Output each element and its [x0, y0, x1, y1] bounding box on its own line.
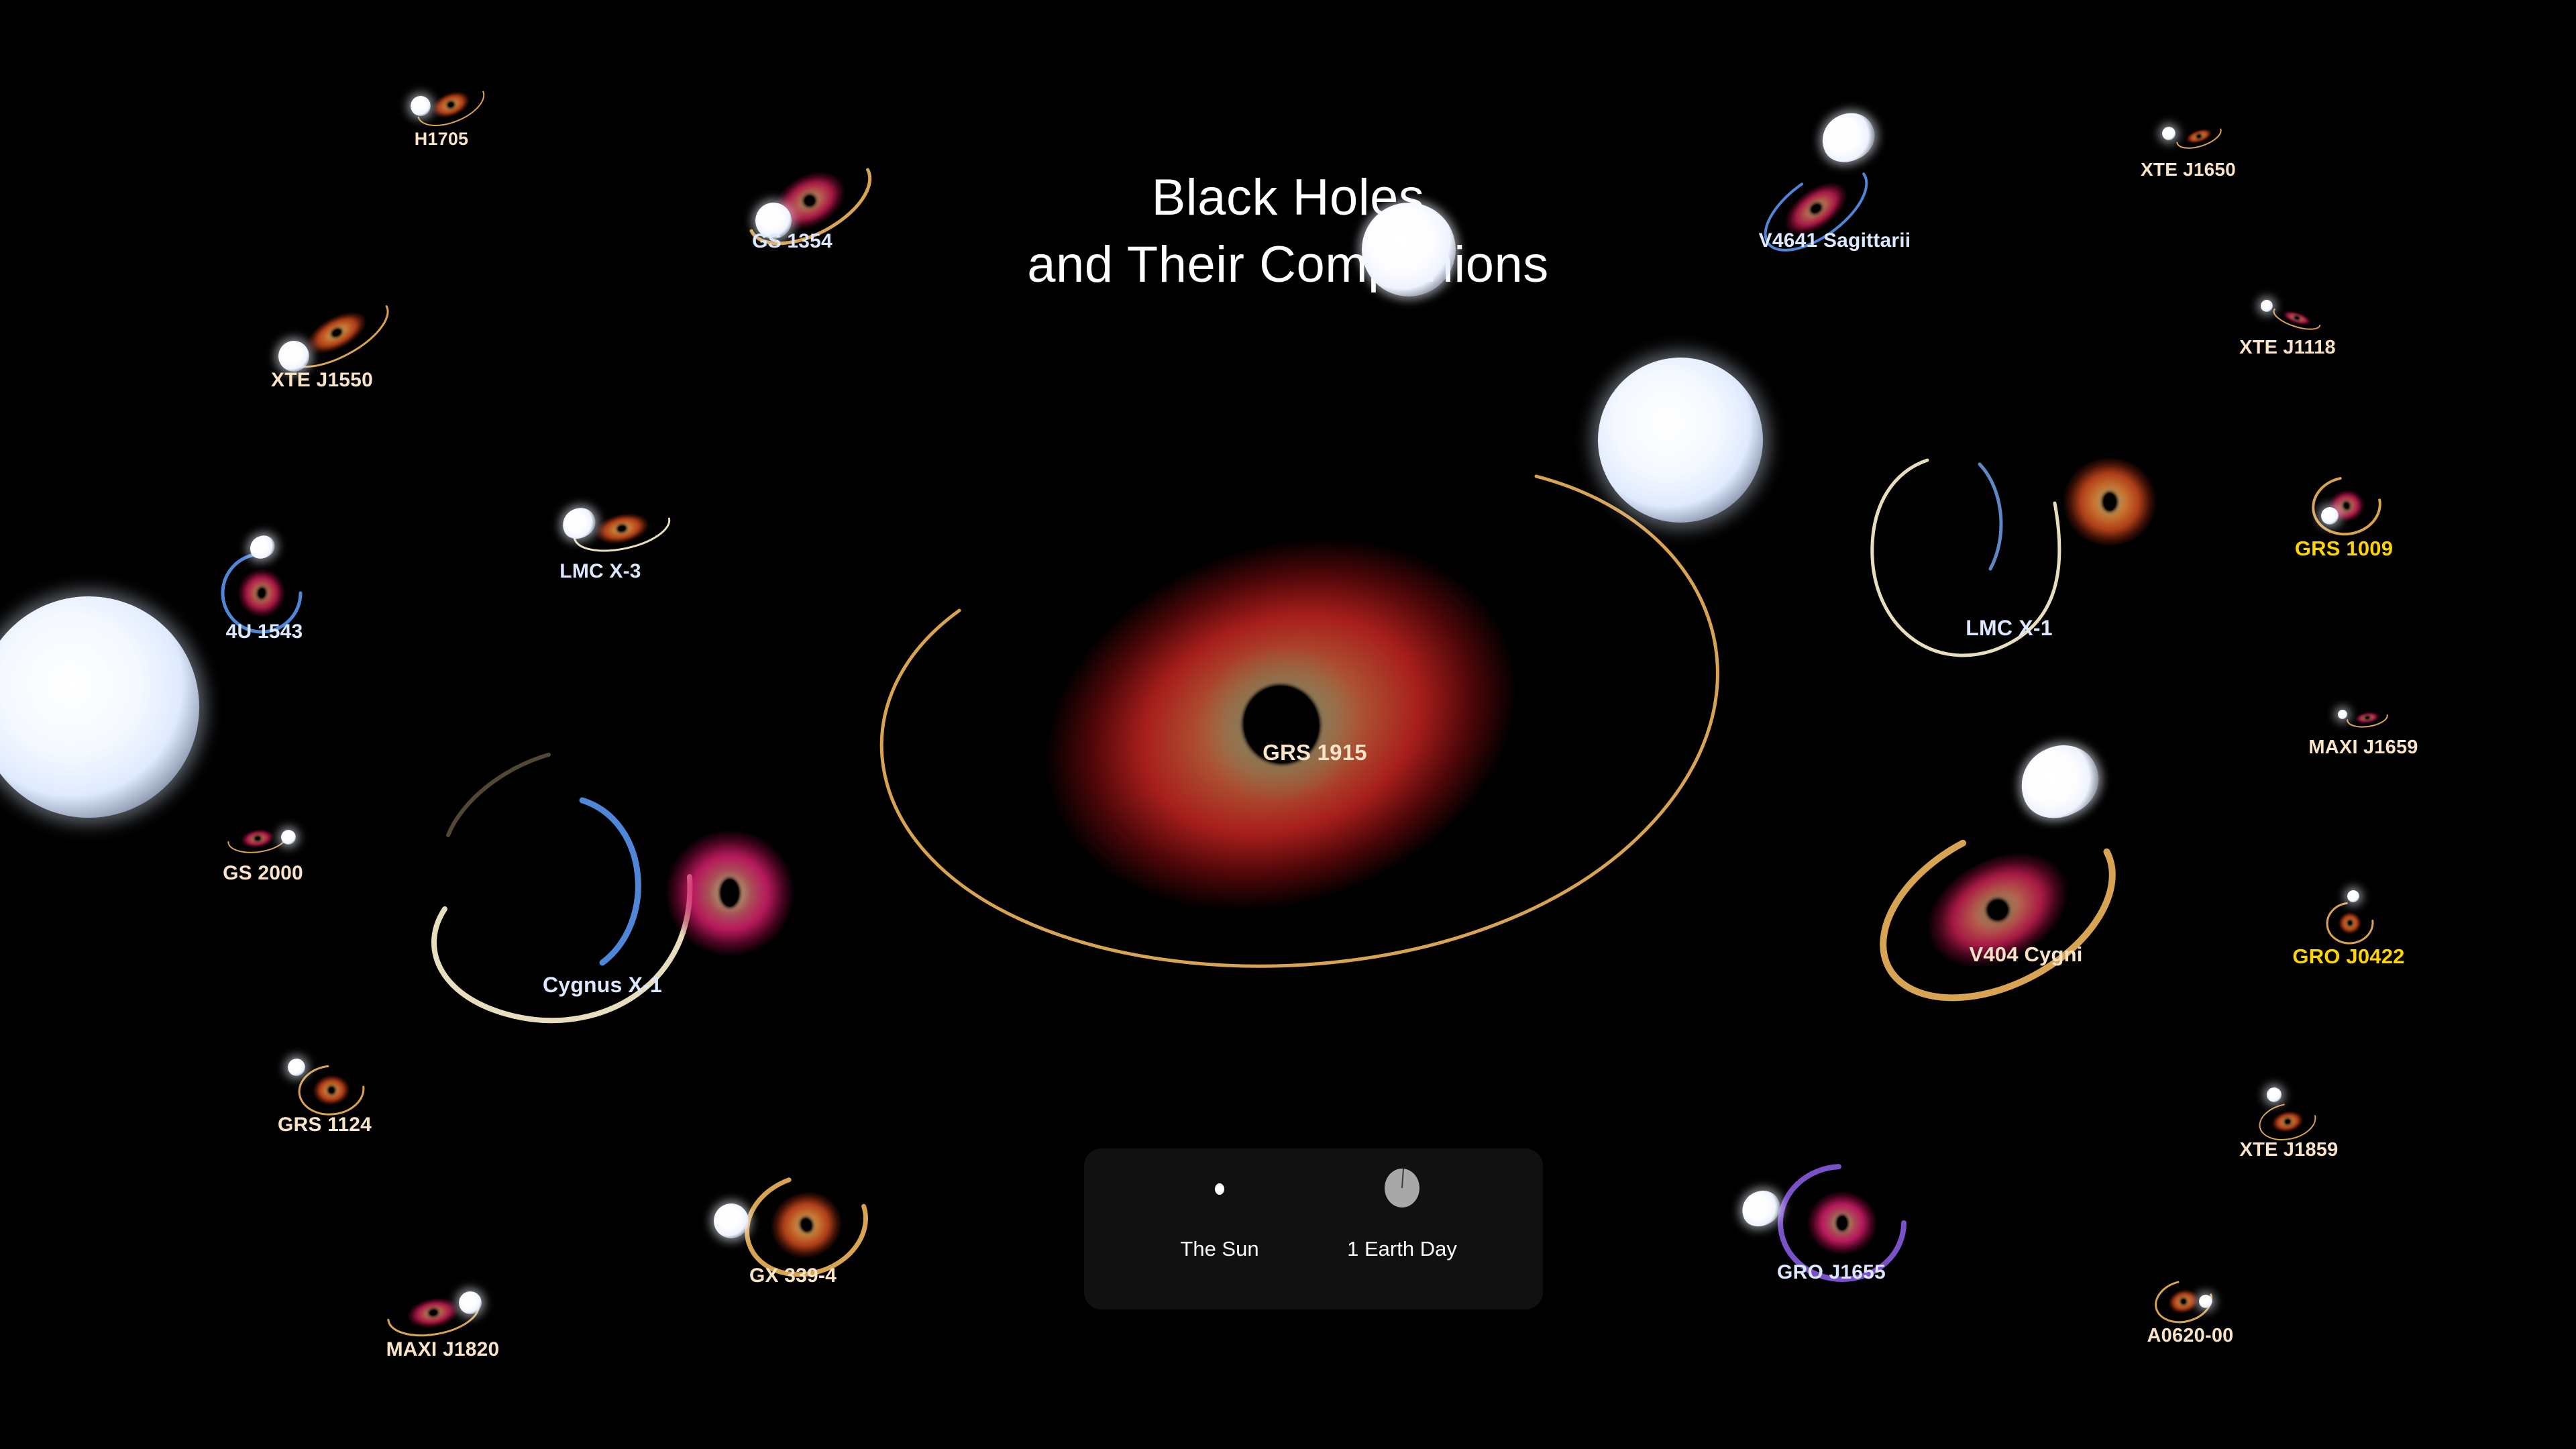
system-artwork	[2151, 111, 2225, 164]
system-artwork	[223, 808, 303, 869]
accretion-disk	[1804, 1188, 1880, 1258]
system-cygnusx1[interactable]: Cygnus X-1	[381, 728, 824, 1077]
system-artwork	[1848, 429, 2170, 698]
system-gx3394[interactable]: GX 339-4	[719, 1164, 867, 1278]
legend-item-earth-day: 1 Earth Day	[1322, 1148, 1483, 1309]
companion-star	[459, 1291, 482, 1314]
system-lmcx3[interactable]: LMC X-3	[540, 493, 661, 567]
system-artwork	[258, 292, 386, 379]
system-v404cygni[interactable]: V404 Cygni	[1885, 782, 2167, 1003]
system-label-xtej1859: XTE J1859	[2240, 1139, 2339, 1161]
system-label-cygnusx1: Cygnus X-1	[543, 973, 662, 998]
legend-panel: The Sun 1 Earth Day	[1084, 1148, 1543, 1309]
system-artwork	[401, 80, 482, 134]
system-label-xtej1118: XTE J1118	[2239, 337, 2336, 359]
system-label-4u1543: 4U 1543	[226, 621, 303, 643]
companion-star	[714, 1203, 749, 1238]
system-artwork	[386, 1275, 500, 1348]
system-lmcx1[interactable]: LMC X-1	[1848, 429, 2170, 698]
system-v4641sgr[interactable]: V4641 Sagittarii	[1751, 134, 1919, 248]
system-label-gs1354: GS 1354	[752, 230, 833, 253]
system-label-maxij1820: MAXI J1820	[386, 1338, 500, 1361]
accretion-disk	[659, 824, 800, 962]
system-label-groj0422: GRO J0422	[2292, 945, 2404, 969]
accretion-disk	[2061, 458, 2159, 545]
system-groj0422[interactable]: GRO J0422	[2308, 884, 2389, 951]
companion-star	[1598, 358, 1763, 523]
system-maxij1659[interactable]: MAXI J1659	[2326, 691, 2400, 745]
system-label-xtej1550: XTE J1550	[271, 369, 373, 392]
system-label-grs1915: GRS 1915	[1263, 740, 1367, 765]
companion-star	[2321, 507, 2339, 525]
system-artwork	[719, 1164, 867, 1278]
system-gs1354[interactable]: GS 1354	[715, 151, 869, 245]
system-artwork	[281, 1050, 368, 1117]
companion-star	[411, 96, 431, 116]
system-4u1543[interactable]: 4U 1543	[214, 523, 315, 631]
system-h1705[interactable]: H1705	[401, 80, 482, 134]
system-artwork	[2251, 288, 2324, 342]
system-label-grs1124: GRS 1124	[278, 1114, 372, 1136]
system-label-gx3394: GX 339-4	[749, 1265, 837, 1287]
system-artwork	[1885, 782, 2167, 1003]
companion-star	[2162, 127, 2176, 140]
system-grs1124[interactable]: GRS 1124	[281, 1050, 368, 1117]
system-artwork	[2300, 473, 2387, 547]
legend-item-sun: The Sun	[1139, 1148, 1300, 1309]
system-artwork	[2249, 1080, 2329, 1147]
system-artwork	[381, 728, 824, 1077]
system-label-v404cygni: V404 Cygni	[1969, 943, 2082, 967]
system-xtej1859[interactable]: XTE J1859	[2249, 1080, 2329, 1147]
companion-star	[2261, 300, 2273, 312]
system-maxij1820[interactable]: MAXI J1820	[386, 1275, 500, 1348]
sun-icon	[1215, 1183, 1224, 1195]
system-artwork	[540, 493, 661, 567]
system-label-xtej1650: XTE J1650	[2141, 159, 2236, 180]
system-grs1009[interactable]: GRS 1009	[2300, 473, 2387, 547]
legend-label-sun: The Sun	[1180, 1237, 1258, 1261]
system-a062000[interactable]: A0620-00	[2147, 1268, 2234, 1335]
earth-day-icon	[1385, 1169, 1419, 1207]
system-label-grs1009: GRS 1009	[2295, 537, 2393, 561]
system-label-gs2000: GS 2000	[223, 862, 303, 885]
system-xtej1550[interactable]: XTE J1550	[258, 292, 386, 379]
system-xtej1118[interactable]: XTE J1118	[2251, 288, 2324, 342]
legend-label-earth-day: 1 Earth Day	[1347, 1237, 1457, 1261]
system-groj1655[interactable]: GRO J1655	[1748, 1157, 1915, 1291]
visualization-canvas: Black Holes and Their Companions H1705GS…	[0, 0, 2576, 1449]
system-gs2000[interactable]: GS 2000	[223, 808, 303, 869]
system-label-h1705: H1705	[415, 129, 469, 150]
companion-star	[0, 596, 199, 818]
system-artwork	[2308, 884, 2389, 951]
system-label-lmcx3: LMC X-3	[559, 560, 641, 583]
system-label-maxij1659: MAXI J1659	[2308, 737, 2418, 759]
system-label-a062000: A0620-00	[2147, 1325, 2234, 1347]
page-title: Black Holes and Their Companions	[0, 164, 2576, 299]
system-label-v4641sgr: V4641 Sagittarii	[1759, 229, 1911, 252]
companion-star	[1362, 203, 1456, 297]
system-xtej1650[interactable]: XTE J1650	[2151, 111, 2225, 164]
system-label-lmcx1: LMC X-1	[1966, 616, 2052, 641]
system-artwork	[214, 523, 315, 631]
system-label-groj1655: GRO J1655	[1777, 1261, 1886, 1284]
